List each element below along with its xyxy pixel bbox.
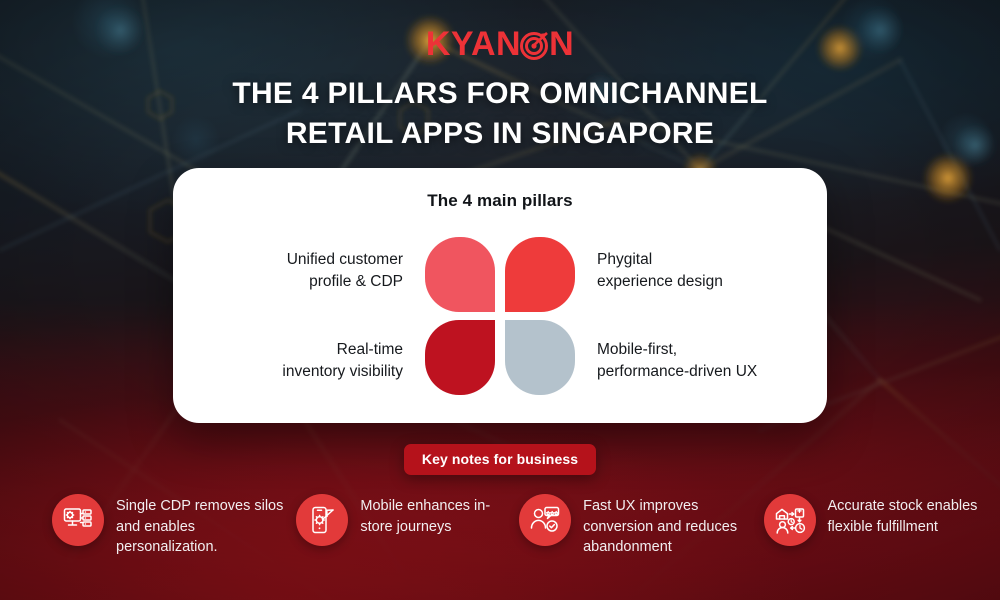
brand-logo-text-after: N	[549, 27, 574, 61]
petal-unified-cdp	[425, 237, 495, 312]
key-note-text: Accurate stock enables flexible fulfillm…	[828, 494, 1000, 537]
brand-logo: KYAN N	[0, 24, 1000, 64]
card-title: The 4 main pillars	[173, 168, 827, 211]
key-note-item: Fast UX improves conversion and reduces …	[519, 494, 763, 584]
pillar-label-mobile-first: Mobile-first, performance-driven UX	[575, 339, 827, 383]
pillar-label-unified-cdp: Unified customer profile & CDP	[173, 249, 425, 293]
user-rating-check-icon	[519, 494, 571, 546]
pillar-label-realtime-inventory: Real-time inventory visibility	[173, 339, 425, 383]
pillar-label-phygital: Phygital experience design	[575, 249, 827, 293]
key-note-text: Mobile enhances in-store journeys	[360, 494, 519, 537]
brand-logo-text: KYAN N	[426, 27, 574, 61]
key-note-item: Single CDP removes silos and enables per…	[52, 494, 296, 584]
mobile-gear-arrow-icon	[296, 494, 348, 546]
petal-realtime-inventory	[425, 320, 495, 395]
key-note-item: Accurate stock enables flexible fulfillm…	[764, 494, 1000, 584]
pillar-label-text: Real-time inventory visibility	[282, 341, 403, 380]
key-note-text: Single CDP removes silos and enables per…	[116, 494, 296, 558]
page-title: THE 4 PILLARS FOR OMNICHANNEL RETAIL APP…	[60, 74, 940, 154]
petal-phygital	[505, 237, 575, 312]
pillars-layout: Unified customer profile & CDP Phygital …	[173, 226, 827, 406]
key-note-text: Fast UX improves conversion and reduces …	[583, 494, 763, 558]
key-notes-list: Single CDP removes silos and enables per…	[52, 494, 1000, 584]
pillars-card: The 4 main pillars Unified customer prof…	[173, 168, 827, 423]
target-bullseye-icon	[520, 30, 550, 60]
petal-mobile-first	[505, 320, 575, 395]
brand-logo-text-before: KYAN	[426, 27, 521, 61]
key-note-item: Mobile enhances in-store journeys	[296, 494, 519, 584]
pillar-label-text: Mobile-first, performance-driven UX	[597, 341, 757, 380]
headline-line-1: THE 4 PILLARS FOR OMNICHANNEL	[60, 74, 940, 114]
key-notes-badge-label: Key notes for business	[404, 444, 596, 475]
pillar-label-text: Unified customer profile & CDP	[287, 251, 403, 290]
headline-line-2: RETAIL APPS IN SINGAPORE	[60, 114, 940, 154]
warehouse-box-clock-icon	[764, 494, 816, 546]
monitor-gear-database-icon	[52, 494, 104, 546]
infographic-poster: KYAN N THE 4 PILLARS FOR OMNICHANNEL RET…	[0, 0, 1000, 600]
four-petal-diagram	[425, 237, 575, 395]
pillar-label-text: Phygital experience design	[597, 251, 723, 290]
key-notes-badge: Key notes for business	[0, 444, 1000, 475]
